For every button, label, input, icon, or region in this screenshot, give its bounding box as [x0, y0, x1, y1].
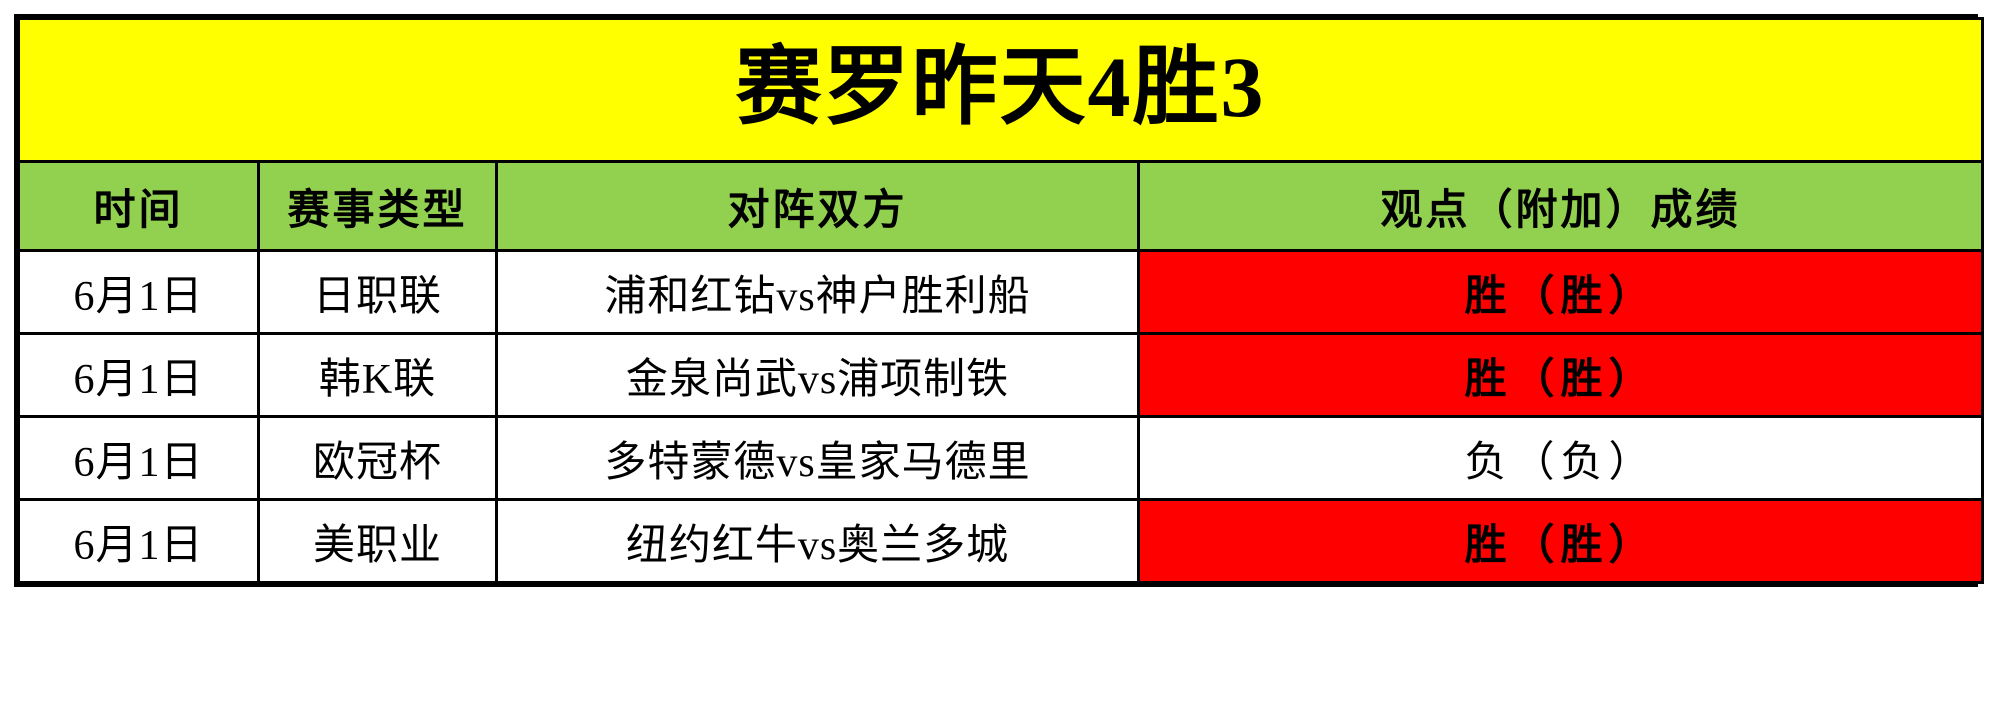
table-row: 6月1日 欧冠杯 多特蒙德vs皇家马德里 负（负）: [19, 417, 1983, 500]
page-title-text: 赛罗昨天4胜3: [20, 42, 1981, 132]
status-badge: 胜（胜）: [1140, 262, 1981, 323]
cell-match-text: 多特蒙德vs皇家马德里: [498, 428, 1137, 489]
cell-match: 纽约红牛vs奥兰多城: [497, 500, 1139, 583]
cell-match-text: 浦和红钻vs神户胜利船: [498, 262, 1137, 323]
cell-match: 浦和红钻vs神户胜利船: [497, 251, 1139, 334]
cell-match: 多特蒙德vs皇家马德里: [497, 417, 1139, 500]
table-row: 6月1日 日职联 浦和红钻vs神户胜利船 胜（胜）: [19, 251, 1983, 334]
cell-time-text: 6月1日: [20, 511, 257, 572]
cell-time: 6月1日: [19, 500, 259, 583]
column-header-match-label: 对阵双方: [498, 176, 1137, 237]
table-row: 6月1日 美职业 纽约红牛vs奥兰多城 胜（胜）: [19, 500, 1983, 583]
column-header-time: 时间: [19, 162, 259, 251]
column-header-time-label: 时间: [20, 176, 257, 237]
column-header-league: 赛事类型: [259, 162, 497, 251]
cell-time: 6月1日: [19, 251, 259, 334]
page-title: 赛罗昨天4胜3: [19, 19, 1983, 162]
cell-league-text: 美职业: [260, 511, 495, 572]
status-badge: 负（负）: [1140, 428, 1981, 489]
cell-result: 胜（胜）: [1139, 500, 1983, 583]
cell-league: 韩K联: [259, 334, 497, 417]
table-body: 赛罗昨天4胜3 时间 赛事类型 对阵双方 观点（附加）成绩 6: [19, 19, 1983, 583]
cell-league: 欧冠杯: [259, 417, 497, 500]
column-header-league-label: 赛事类型: [260, 176, 495, 237]
cell-league-text: 韩K联: [260, 345, 495, 406]
cell-league-text: 欧冠杯: [260, 428, 495, 489]
match-prediction-table: 赛罗昨天4胜3 时间 赛事类型 对阵双方 观点（附加）成绩 6: [17, 17, 1984, 584]
column-header-result-label: 观点（附加）成绩: [1140, 176, 1981, 237]
cell-result: 胜（胜）: [1139, 334, 1983, 417]
cell-league: 美职业: [259, 500, 497, 583]
cell-time: 6月1日: [19, 334, 259, 417]
status-badge: 胜（胜）: [1140, 511, 1981, 572]
cell-result: 负（负）: [1139, 417, 1983, 500]
column-header-result: 观点（附加）成绩: [1139, 162, 1983, 251]
cell-league-text: 日职联: [260, 262, 495, 323]
cell-match-text: 纽约红牛vs奥兰多城: [498, 511, 1137, 572]
table-row: 6月1日 韩K联 金泉尚武vs浦项制铁 胜（胜）: [19, 334, 1983, 417]
table-header-row: 时间 赛事类型 对阵双方 观点（附加）成绩: [19, 162, 1983, 251]
cell-time-text: 6月1日: [20, 345, 257, 406]
cell-match: 金泉尚武vs浦项制铁: [497, 334, 1139, 417]
prediction-table-board: 赛罗昨天4胜3 时间 赛事类型 对阵双方 观点（附加）成绩 6: [14, 14, 1978, 587]
status-badge: 胜（胜）: [1140, 345, 1981, 406]
cell-time-text: 6月1日: [20, 428, 257, 489]
cell-league: 日职联: [259, 251, 497, 334]
cell-match-text: 金泉尚武vs浦项制铁: [498, 345, 1137, 406]
column-header-match: 对阵双方: [497, 162, 1139, 251]
cell-result: 胜（胜）: [1139, 251, 1983, 334]
cell-time-text: 6月1日: [20, 262, 257, 323]
cell-time: 6月1日: [19, 417, 259, 500]
title-banner-row: 赛罗昨天4胜3: [19, 19, 1983, 162]
